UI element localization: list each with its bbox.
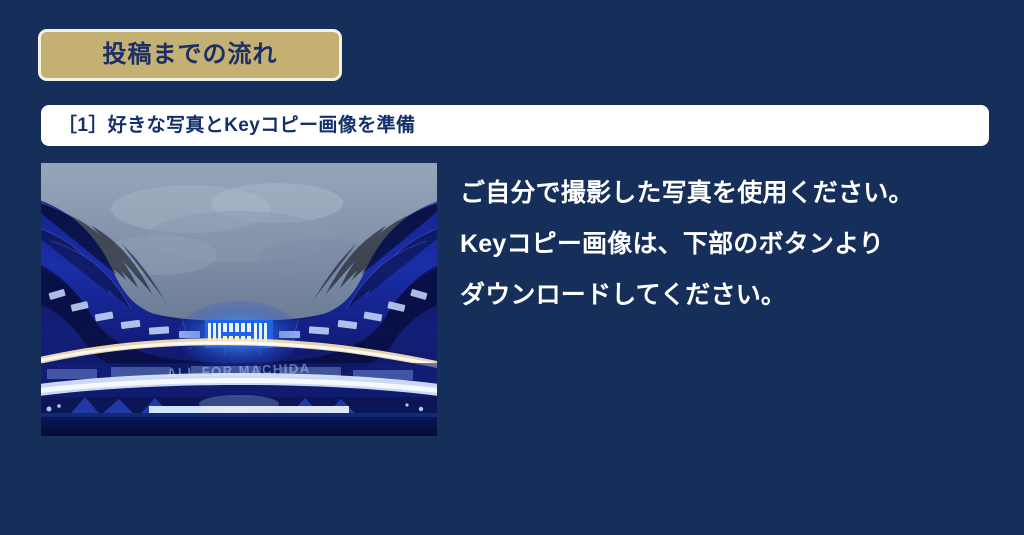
description-line-1: ご自分で撮影した写真を使用ください。 — [460, 168, 1005, 219]
section-badge-label: 投稿までの流れ — [103, 43, 278, 67]
description-block: ご自分で撮影した写真を使用ください。 Keyコピー画像は、下部のボタンより ダウ… — [460, 168, 1005, 321]
step-title-text: ［1］好きな写真とKeyコピー画像を準備 — [58, 116, 415, 135]
section-badge: 投稿までの流れ — [38, 29, 342, 81]
slide-canvas: 投稿までの流れ ［1］好きな写真とKeyコピー画像を準備 — [0, 0, 1024, 535]
description-line-2: Keyコピー画像は、下部のボタンより — [460, 219, 1005, 270]
step-title-bar: ［1］好きな写真とKeyコピー画像を準備 — [41, 105, 989, 146]
stadium-video-screen — [177, 301, 301, 369]
stadium-photo: ALL FOR MACHIDA — [41, 163, 437, 436]
description-line-3: ダウンロードしてください。 — [460, 270, 1005, 321]
stadium-photo-illustration: ALL FOR MACHIDA — [41, 163, 437, 436]
